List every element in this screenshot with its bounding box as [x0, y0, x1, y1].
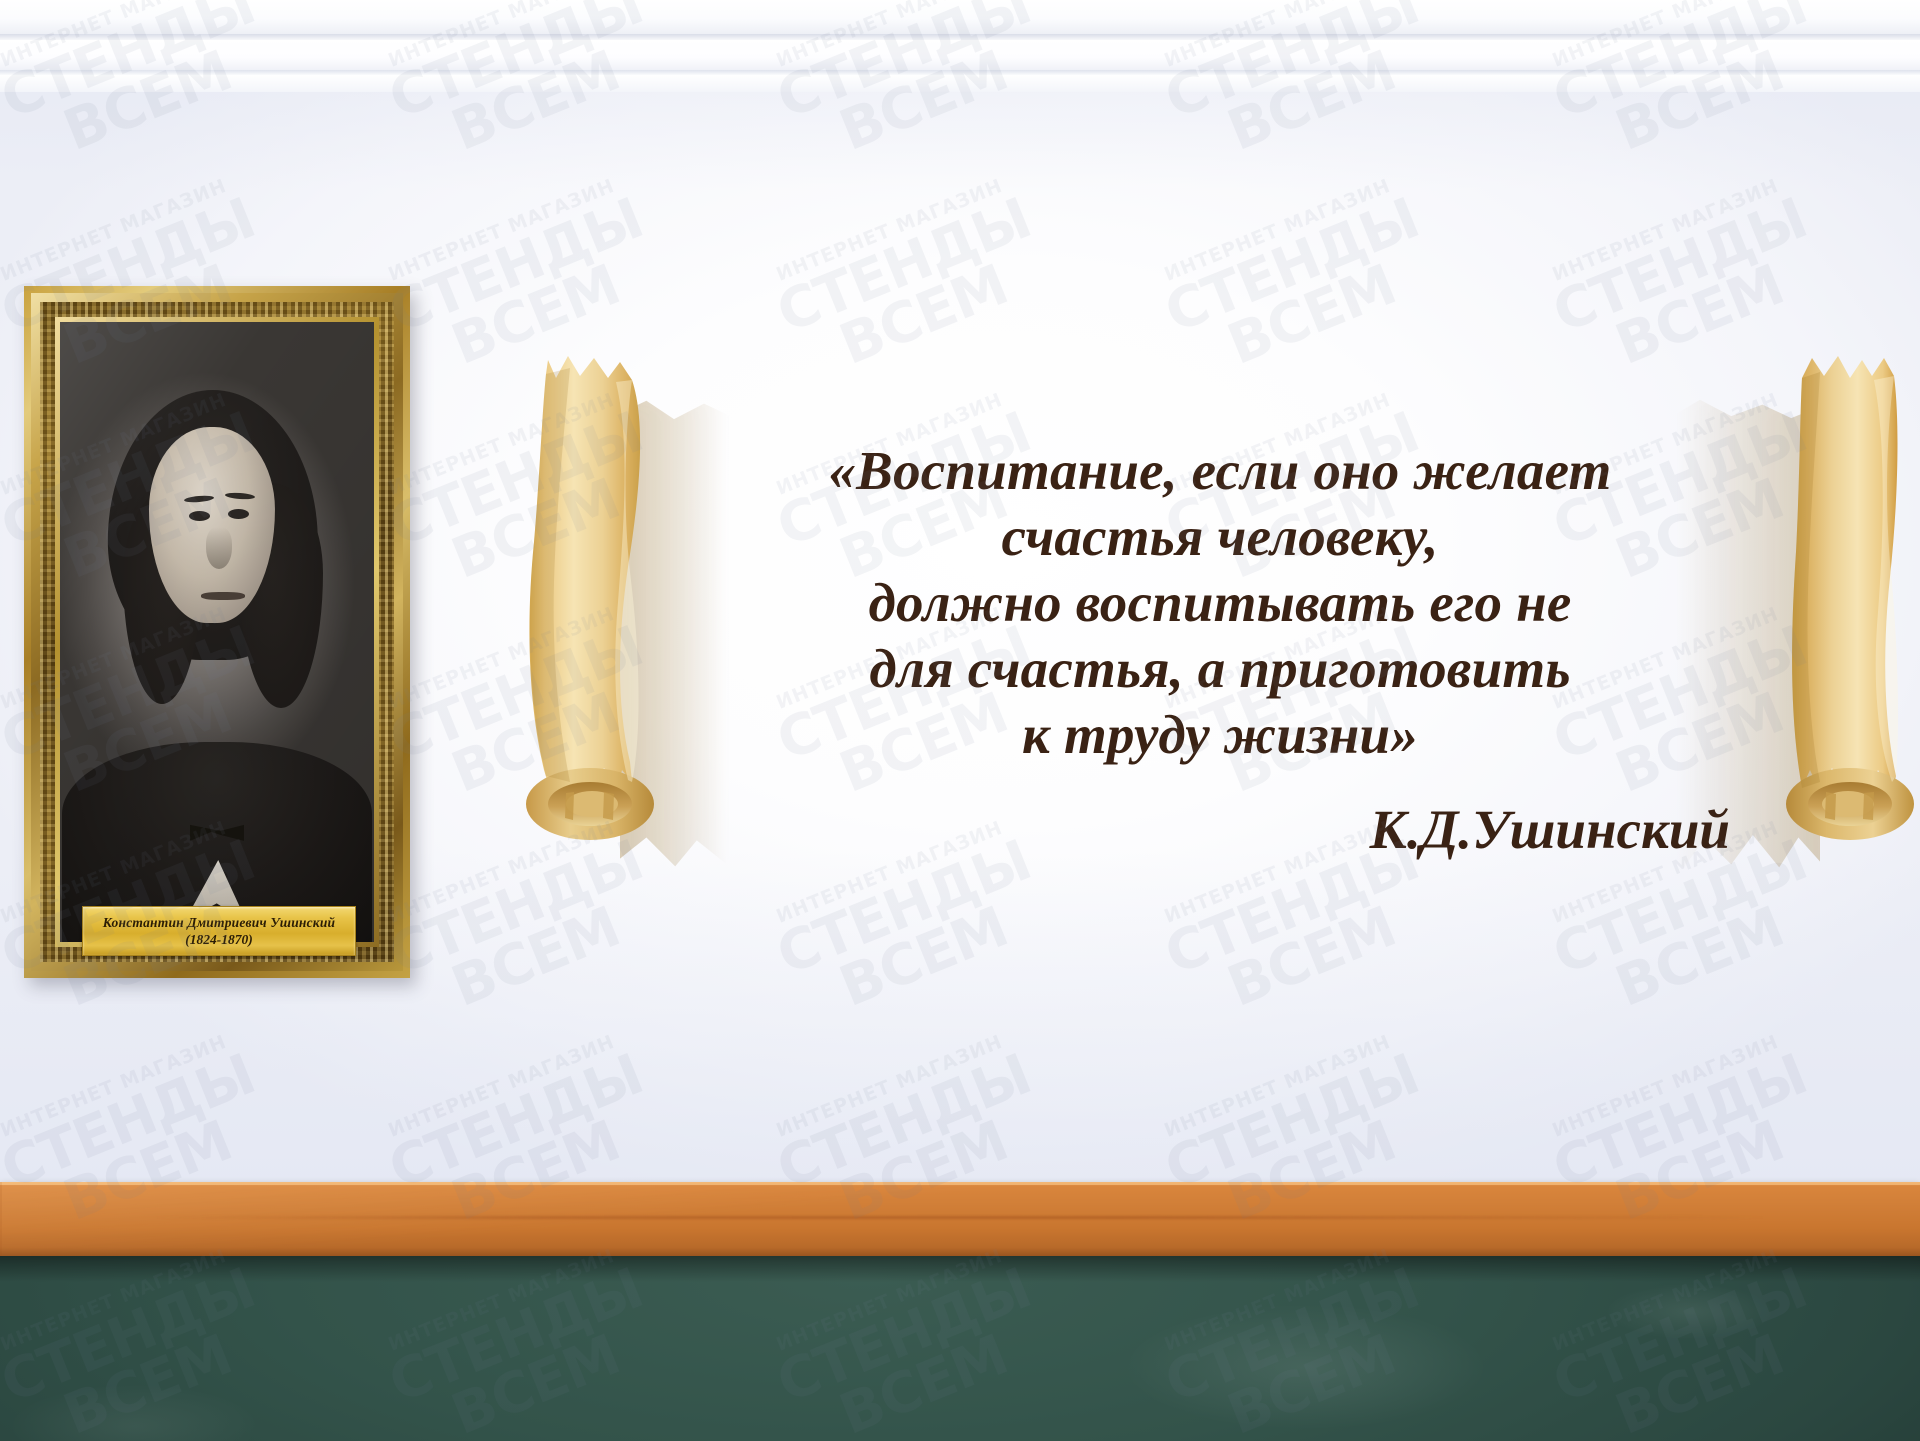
quote-line-5: к труду жизни»: [670, 702, 1770, 768]
quote-line-3: должно воспитывать его не: [670, 570, 1770, 636]
quote-text: «Воспитание, если оно желает счастья чел…: [670, 438, 1770, 768]
quote-line-1: «Воспитание, если оно желает: [670, 438, 1770, 504]
nameplate-name: Константин Дмитриевич Ушинский: [103, 915, 336, 931]
molding-band-1: [0, 0, 1920, 34]
scroll-curl-left: [520, 352, 690, 912]
ledge-grain-line: [154, 1216, 1767, 1219]
portrait-photograph: [60, 322, 374, 942]
frame-inner-lip: [55, 317, 379, 947]
chalkboard-chalk-dust: [0, 1256, 1920, 1441]
poster-scene: Константин Дмитриевич Ушинский (1824-187…: [0, 0, 1920, 1441]
molding-band-3: [0, 75, 1920, 92]
nameplate-years: (1824-1870): [185, 932, 253, 948]
quote-line-2: счастья человеку,: [670, 504, 1770, 570]
molding-band-2: [0, 40, 1920, 70]
portrait-nameplate: Константин Дмитриевич Ушинский (1824-187…: [82, 906, 356, 956]
portrait-frame: Константин Дмитриевич Ушинский (1824-187…: [24, 286, 410, 978]
wooden-chalk-ledge: [0, 1182, 1920, 1256]
crown-molding: [0, 0, 1920, 92]
chalkboard: [0, 1256, 1920, 1441]
portrait-glass-glare: [60, 322, 374, 942]
quote-scroll: «Воспитание, если оно желает счастья чел…: [520, 352, 1920, 912]
quote-author: К.Д.Ушинский: [670, 800, 1730, 860]
quote-line-4: для счастья, а приготовить: [670, 636, 1770, 702]
scroll-curl-right: [1750, 352, 1920, 912]
